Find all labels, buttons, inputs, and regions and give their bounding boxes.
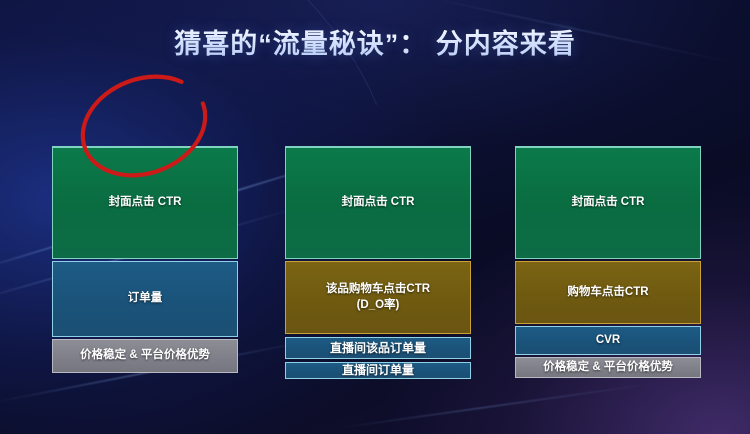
slide-title: 猜喜的“流量秘诀”： 分内容来看	[0, 22, 750, 61]
funnel-band-label: 价格稳定 & 平台价格优势	[74, 348, 216, 364]
funnel-band: 购物车点击CTR	[515, 261, 701, 324]
funnel-band: 该品购物车点击CTR(D_O率)	[285, 261, 471, 334]
funnel-band: 封面点击 CTR	[515, 146, 701, 259]
funnel-band-label: 封面点击 CTR	[566, 195, 651, 211]
funnel-band-label: 封面点击 CTR	[336, 195, 421, 211]
presentation-slide: 猜喜的“流量秘诀”： 分内容来看 商品卡 封面点击 CTR订单量价格稳定 & 平…	[0, 0, 750, 434]
decorative-beam-4	[331, 382, 658, 430]
funnel-band-label: 订单量	[122, 291, 169, 307]
funnel-band: CVR	[515, 326, 701, 355]
funnel-band: 直播间订单量	[285, 362, 471, 379]
funnel-band-label: 购物车点击CTR	[561, 285, 654, 301]
funnel-band: 直播间该品订单量	[285, 337, 471, 359]
funnel-band-label: 该品购物车点击CTR(D_O率)	[320, 282, 436, 313]
funnel-band: 封面点击 CTR	[285, 146, 471, 259]
funnel-band-label: 直播间该品订单量	[324, 340, 432, 356]
funnel-band-label: 直播间订单量	[336, 362, 420, 378]
funnel-band: 封面点击 CTR	[52, 146, 238, 259]
funnel-band-label: CVR	[590, 333, 626, 349]
funnel-band-label: 封面点击 CTR	[103, 195, 188, 211]
funnel-band: 订单量	[52, 261, 238, 337]
funnel-band-label: 价格稳定 & 平台价格优势	[537, 360, 679, 376]
funnel-band: 价格稳定 & 平台价格优势	[52, 339, 238, 373]
funnel-band: 价格稳定 & 平台价格优势	[515, 357, 701, 378]
